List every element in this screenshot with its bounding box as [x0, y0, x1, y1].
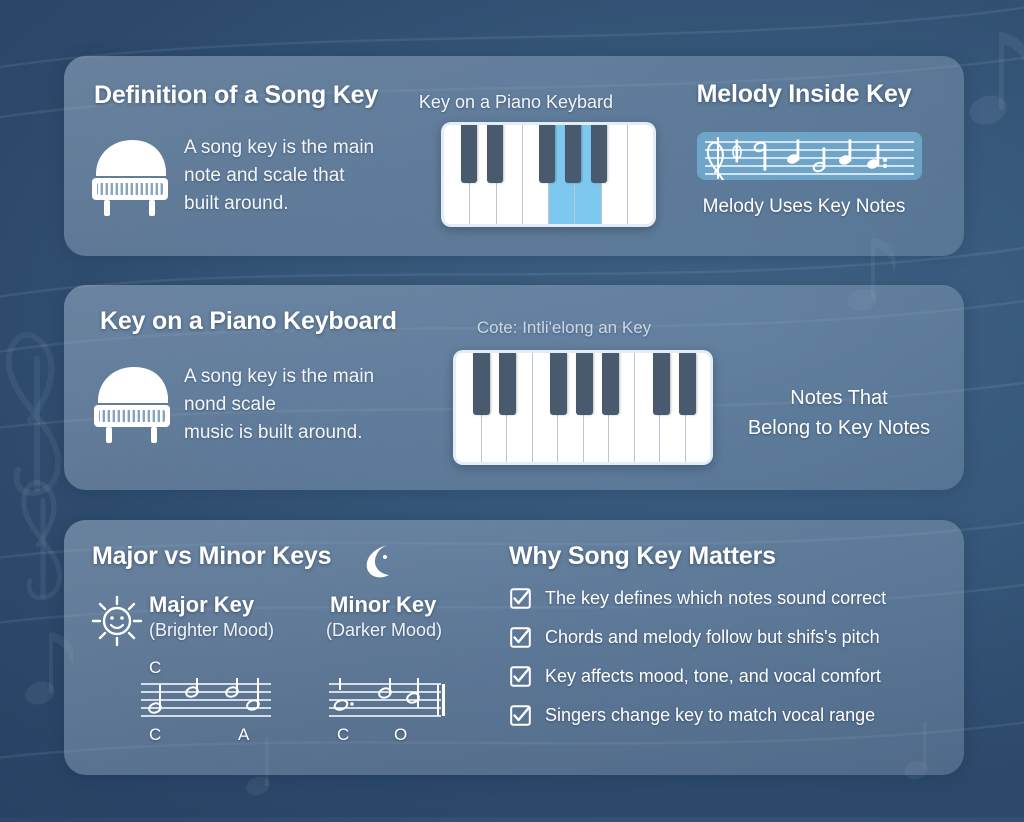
- black-key[interactable]: [576, 353, 593, 415]
- melody-staff: [697, 132, 922, 180]
- black-key[interactable]: [473, 353, 490, 415]
- card1-body-line-1: A song key is the main: [184, 134, 414, 162]
- why-matters-checklist: The key defines which notes sound correc…: [510, 588, 886, 726]
- smiling-sun-icon: [86, 588, 148, 650]
- white-key[interactable]: [628, 125, 653, 224]
- minor-key-staff: [329, 678, 454, 723]
- major-key-title: Major Key: [149, 592, 254, 618]
- grand-piano-icon: [88, 357, 176, 443]
- card1-melody-caption: Melody Uses Key Notes: [664, 196, 944, 218]
- minor-staff-label-bottom-left: C: [337, 725, 349, 745]
- black-key[interactable]: [653, 353, 670, 415]
- check-icon: [510, 588, 531, 609]
- piano-keyboard-highlighted[interactable]: [441, 122, 656, 227]
- card2-body-line-3: music is built around.: [184, 419, 424, 447]
- card1-keyboard-label: Key on a Piano Keybard: [376, 92, 656, 113]
- black-key[interactable]: [461, 125, 477, 183]
- card2-right-text: Notes That Belong to Key Notes: [724, 383, 954, 443]
- black-key[interactable]: [487, 125, 503, 183]
- card1-body: A song key is the main note and scale th…: [184, 134, 414, 218]
- checklist-item[interactable]: Key affects mood, tone, and vocal comfor…: [510, 666, 886, 687]
- checklist-item[interactable]: Chords and melody follow but shifs's pit…: [510, 627, 886, 648]
- checklist-item-label: Singers change key to match vocal range: [545, 705, 875, 726]
- minor-key-mood: (Darker Mood): [326, 620, 442, 641]
- card2-keyboard-label: Cote: Intli'elong an Key: [414, 318, 714, 338]
- card2-title: Key on a Piano Keyboard: [100, 307, 397, 336]
- check-icon: [510, 666, 531, 687]
- checklist-item[interactable]: Singers change key to match vocal range: [510, 705, 886, 726]
- card1-body-line-3: built around.: [184, 190, 414, 218]
- card-definition-of-a-song-key: Definition of a Song Key: [64, 56, 964, 256]
- card3-right-title: Why Song Key Matters: [509, 542, 776, 571]
- major-staff-label-bottom-right: A: [238, 725, 249, 745]
- black-key[interactable]: [591, 125, 607, 183]
- card-major-vs-minor-and-why-matters: Major vs Minor Keys Majo: [64, 520, 964, 775]
- black-key[interactable]: [539, 125, 555, 183]
- card1-body-line-2: note and scale that: [184, 162, 414, 190]
- melody-staff-box: [697, 132, 922, 180]
- crescent-moon-icon: [358, 540, 400, 582]
- black-key[interactable]: [499, 353, 516, 415]
- card-key-on-a-piano-keyboard: Key on a Piano Keyboard: [64, 285, 964, 490]
- black-key[interactable]: [602, 353, 619, 415]
- checklist-item-label: The key defines which notes sound correc…: [545, 588, 886, 609]
- piano-keyboard-plain[interactable]: [453, 350, 713, 465]
- check-icon: [510, 705, 531, 726]
- card2-body-line-1: A song key is the main: [184, 363, 424, 391]
- card2-body: A song key is the main nond scale music …: [184, 363, 424, 447]
- major-key-mood: (Brighter Mood): [149, 620, 274, 641]
- major-staff-label-top: C: [149, 658, 161, 678]
- checklist-item-label: Chords and melody follow but shifs's pit…: [545, 627, 880, 648]
- card2-body-line-2: nond scale: [184, 391, 424, 419]
- checklist-item[interactable]: The key defines which notes sound correc…: [510, 588, 886, 609]
- card2-right-line-2: Belong to Key Notes: [724, 413, 954, 443]
- checklist-item-label: Key affects mood, tone, and vocal comfor…: [545, 666, 881, 687]
- minor-staff-label-bottom-right: O: [394, 725, 407, 745]
- card2-right-line-1: Notes That: [724, 383, 954, 413]
- card1-melody-title: Melody Inside Key: [664, 80, 944, 109]
- grand-piano-icon: [86, 130, 174, 216]
- card3-left-title: Major vs Minor Keys: [92, 542, 331, 571]
- black-key[interactable]: [565, 125, 581, 183]
- major-key-staff: [141, 678, 276, 723]
- major-staff-label-bottom-left: C: [149, 725, 161, 745]
- minor-key-title: Minor Key: [330, 592, 436, 618]
- card1-title: Definition of a Song Key: [94, 81, 378, 110]
- check-icon: [510, 627, 531, 648]
- black-key[interactable]: [679, 353, 696, 415]
- black-key[interactable]: [550, 353, 567, 415]
